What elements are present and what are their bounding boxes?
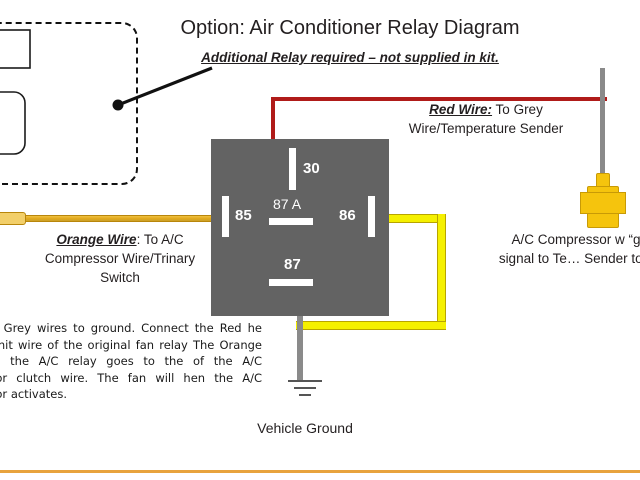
callout-leader-line	[110, 60, 215, 120]
relay-terminal-86-label: 86	[339, 207, 356, 224]
relay-terminal-30-label: 30	[303, 160, 320, 177]
page-title: Option: Air Conditioner Relay Diagram	[150, 17, 550, 40]
annotation-orange-wire: Orange Wire: To A/C Compressor Wire/Trin…	[30, 230, 210, 287]
ground-bar-2	[294, 387, 316, 389]
label-vehicle-ground: Vehicle Ground	[215, 420, 395, 436]
relay-terminal-87-label: 87	[284, 256, 301, 273]
wiring-diagram-canvas: Option: Air Conditioner Relay Diagram Ad…	[0, 0, 640, 480]
relay-terminal-86-blade	[368, 196, 375, 237]
wire-yellow-segment-vertical	[437, 214, 446, 330]
relay-terminal-30-blade	[289, 148, 296, 190]
relay-terminal-85-blade	[222, 196, 229, 237]
sender-lead-wire	[600, 68, 605, 178]
temperature-sender[interactable]	[578, 68, 630, 228]
annotation-red-wire: Red Wire: To Grey Wire/Temperature Sende…	[396, 100, 576, 138]
relay-terminal-87-blade	[269, 279, 313, 286]
annotation-orange-wire-lead: Orange Wire	[56, 232, 136, 247]
ground-symbol	[285, 378, 325, 400]
relay-terminal-85-label: 85	[235, 207, 252, 224]
relay-body[interactable]: 30 85 86 87 A 87	[211, 139, 389, 316]
relay-terminal-87a-blade	[269, 218, 313, 225]
wire-orange	[0, 215, 220, 222]
relay-terminal-87a-label: 87 A	[273, 196, 301, 212]
bottom-divider	[0, 470, 640, 473]
ground-bar-3	[299, 394, 311, 396]
annotation-compressor-note: A/C Compressor w “ground” signal to Te… …	[498, 230, 640, 268]
orange-wire-connector	[0, 212, 26, 225]
annotation-red-wire-lead: Red Wire:	[429, 102, 492, 117]
wire-yellow-segment-bottom	[296, 321, 446, 330]
instructions-paragraph: ellow and Grey wires to ground. Connect …	[0, 320, 262, 403]
sender-flange	[580, 192, 626, 214]
ground-bar-1	[288, 380, 322, 382]
